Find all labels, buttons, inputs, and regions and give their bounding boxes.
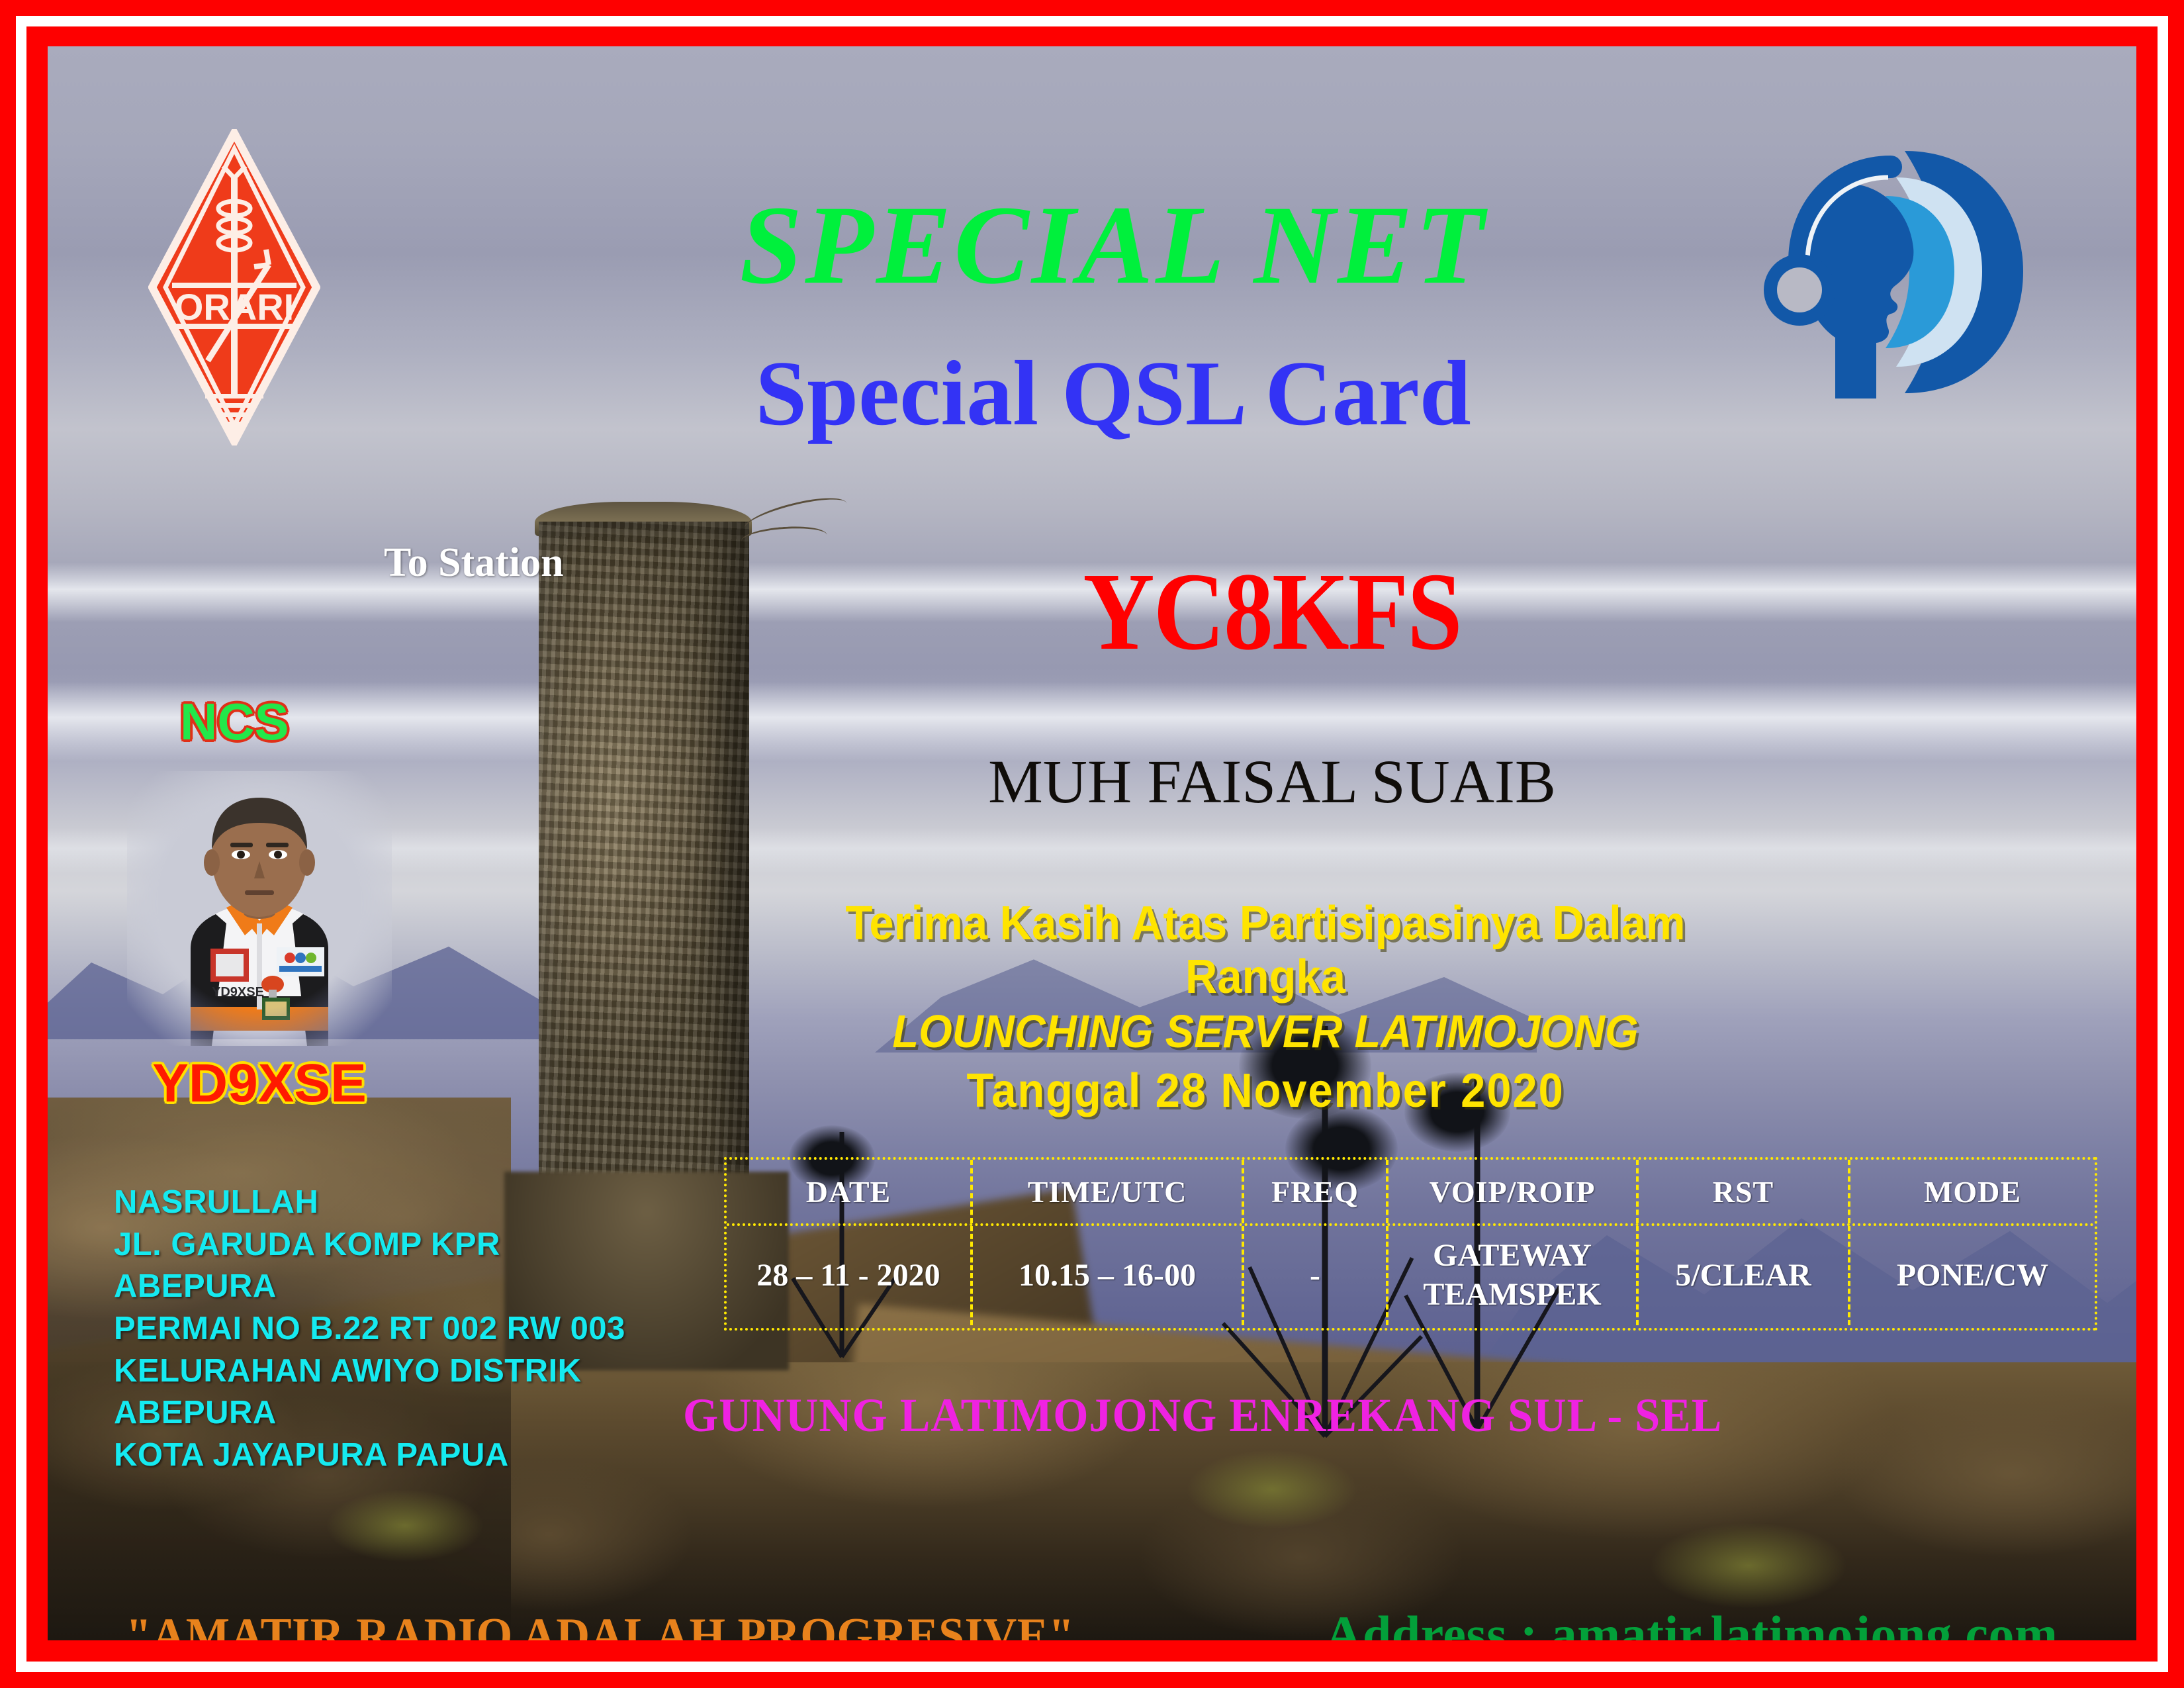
photo-chest-callsign: YD9XSE bbox=[212, 985, 264, 1000]
address-line: KOTA JAYAPURA PAPUA bbox=[114, 1434, 657, 1477]
greeting-line-1: Terima Kasih Atas Partisipasinya Dalam R… bbox=[786, 897, 1746, 1004]
table-header-row: DATE TIME/UTC FREQ VOIP/ROIP RST MODE bbox=[727, 1160, 2095, 1223]
address-line: JL. GARUDA KOMP KPR bbox=[114, 1224, 657, 1266]
cell-voip-roip-line1: GATEWAY bbox=[1423, 1237, 1601, 1276]
footer-motto: "AMATIR RADIO ADALAH PROGRESIVE" bbox=[126, 1611, 1075, 1640]
operator-name: MUH FAISAL SUAIB bbox=[829, 751, 1715, 813]
address-line: ABEPURA bbox=[114, 1392, 657, 1434]
table-row: 28 – 11 - 2020 10.15 – 16-00 - GATEWAY T… bbox=[727, 1223, 2095, 1325]
col-header-rst: RST bbox=[1639, 1160, 1850, 1223]
address-line: PERMAI NO B.22 RT 002 RW 003 bbox=[114, 1308, 657, 1350]
ncs-operator-photo: YD9XSE bbox=[127, 771, 392, 1046]
cell-voip-roip: GATEWAY TEAMSPEK bbox=[1388, 1226, 1639, 1325]
cell-freq: - bbox=[1244, 1226, 1388, 1325]
orari-logo-text: ORARI bbox=[175, 286, 294, 328]
col-header-time-utc: TIME/UTC bbox=[973, 1160, 1244, 1223]
col-header-voip-roip: VOIP/ROIP bbox=[1388, 1160, 1639, 1223]
cell-rst: 5/CLEAR bbox=[1639, 1226, 1850, 1325]
col-header-date: DATE bbox=[727, 1160, 973, 1223]
cell-time-utc: 10.15 – 16-00 bbox=[973, 1226, 1244, 1325]
page-subtitle-qsl-card: Special QSL Card bbox=[484, 348, 1742, 440]
address-line: ABEPURA bbox=[114, 1266, 657, 1308]
headphone-head-logo bbox=[1756, 139, 2027, 404]
cell-mode: PONE/CW bbox=[1850, 1226, 2095, 1325]
ncs-label: NCS bbox=[180, 692, 289, 752]
card-content-layer: ORARI bbox=[48, 46, 2136, 1640]
footer-web-address: Address : amatir.latimojong.com bbox=[1325, 1609, 2058, 1640]
greeting-line-3: Tanggal 28 November 2020 bbox=[786, 1060, 1746, 1123]
cell-voip-roip-line2: TEAMSPEK bbox=[1423, 1276, 1601, 1315]
ncs-callsign: YD9XSE bbox=[127, 1053, 392, 1115]
qso-details-table: DATE TIME/UTC FREQ VOIP/ROIP RST MODE 28… bbox=[724, 1157, 2097, 1331]
orari-logo: ORARI bbox=[148, 129, 320, 445]
address-line: NASRULLAH bbox=[114, 1182, 657, 1224]
station-callsign: YC8KFS bbox=[928, 556, 1616, 667]
location-caption: GUNUNG LATIMOJONG ENREKANG SUL - SEL bbox=[683, 1391, 1878, 1439]
greeting-line-2: LOUNCHING SERVER LATIMOJONG bbox=[786, 1004, 1746, 1060]
greeting-block: Terima Kasih Atas Partisipasinya Dalam R… bbox=[749, 897, 1782, 1122]
page-title-special-net: SPECIAL NET bbox=[484, 189, 1742, 301]
qsl-card-frame: ORARI bbox=[0, 0, 2184, 1688]
to-station-label: To Station bbox=[384, 539, 564, 586]
col-header-freq: FREQ bbox=[1244, 1160, 1388, 1223]
address-line: KELURAHAN AWIYO DISTRIK bbox=[114, 1350, 657, 1393]
cell-date: 28 – 11 - 2020 bbox=[727, 1226, 973, 1325]
card-background-photo: ORARI bbox=[48, 46, 2136, 1640]
mailing-address-block: NASRULLAH JL. GARUDA KOMP KPR ABEPURA PE… bbox=[114, 1182, 657, 1477]
col-header-mode: MODE bbox=[1850, 1160, 2095, 1223]
